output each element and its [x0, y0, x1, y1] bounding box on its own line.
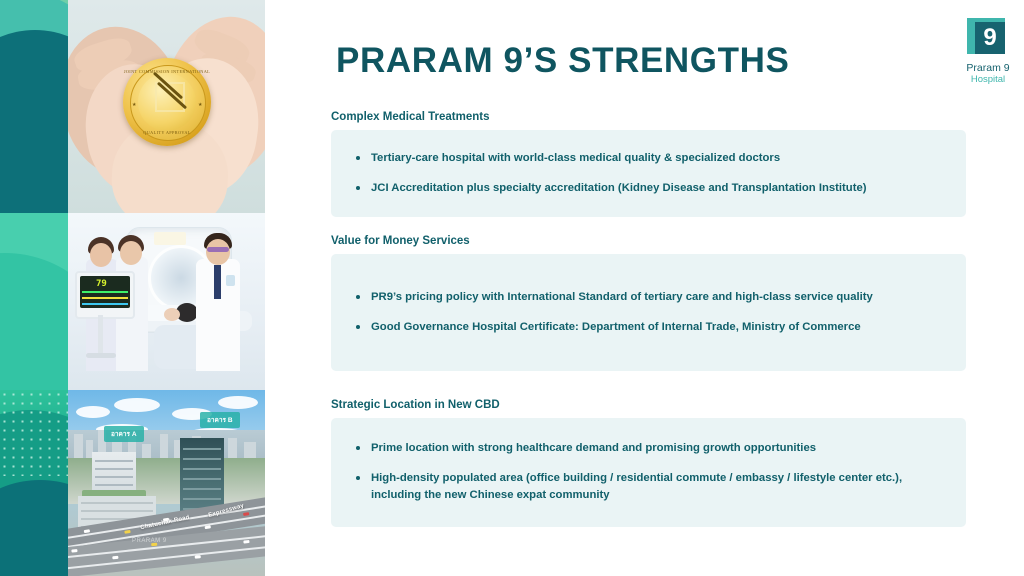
medal-bottom-text: QUALITY APPROVAL	[123, 130, 211, 135]
deco-segment-middle	[0, 213, 68, 390]
photo-strip: JOINT COMMISSION INTERNATIONAL QUALITY A…	[68, 0, 265, 576]
list-item: High-density populated area (office buil…	[349, 470, 948, 505]
list-item: PR9’s pricing policy with International …	[349, 289, 948, 307]
photo-aerial-city: Chatuchak Road Expressway อาคาร A อาคาร …	[68, 390, 265, 576]
list-item: Prime location with strong healthcare de…	[349, 440, 948, 458]
vitals-monitor-icon: 79	[75, 271, 135, 319]
building-tag-b: อาคาร B	[200, 412, 240, 428]
section-complex-medical-treatments: Complex Medical Treatments Tertiary-care…	[331, 111, 966, 217]
list-item: Tertiary-care hospital with world-class …	[349, 150, 948, 168]
logo-subtitle: Hospital	[956, 74, 1020, 85]
logo-mark-icon: 9	[967, 18, 1009, 58]
photo-jci-medal: JOINT COMMISSION INTERNATIONAL QUALITY A…	[68, 0, 265, 213]
section-box: Prime location with strong healthcare de…	[331, 418, 966, 527]
page-title: PRARAM 9’S STRENGTHS	[336, 41, 789, 81]
decorative-gradient-band	[0, 0, 68, 576]
section-value-for-money-services: Value for Money Services PR9’s pricing p…	[331, 235, 966, 371]
medal-top-text: JOINT COMMISSION INTERNATIONAL	[123, 69, 211, 74]
photo-watermark: PRARAM 9	[132, 538, 167, 544]
dot-pattern	[0, 390, 68, 476]
list-item: JCI Accreditation plus specialty accredi…	[349, 180, 948, 198]
list-item: Good Governance Hospital Certificate: De…	[349, 319, 948, 337]
bullet-list: Tertiary-care hospital with world-class …	[349, 150, 948, 197]
bullet-list: PR9’s pricing policy with International …	[349, 289, 948, 336]
logo-number: 9	[975, 22, 1005, 54]
building-tag-a: อาคาร A	[104, 426, 144, 442]
slide: JOINT COMMISSION INTERNATIONAL QUALITY A…	[0, 0, 1024, 576]
photo-ct-scanner: 79	[68, 213, 265, 390]
praram9-logo: 9 Praram 9 Hospital	[956, 18, 1020, 85]
logo-name: Praram 9	[956, 62, 1020, 74]
section-heading: Value for Money Services	[331, 235, 966, 247]
jci-medal-icon: JOINT COMMISSION INTERNATIONAL QUALITY A…	[123, 58, 211, 146]
section-heading: Complex Medical Treatments	[331, 111, 966, 123]
monitor-reading: 79	[96, 279, 107, 289]
section-strategic-location: Strategic Location in New CBD Prime loca…	[331, 399, 966, 527]
deco-segment-bottom	[0, 390, 68, 576]
section-heading: Strategic Location in New CBD	[331, 399, 966, 411]
content-area: PRARAM 9’S STRENGTHS 9 Praram 9 Hospital…	[265, 0, 1024, 576]
bullet-list: Prime location with strong healthcare de…	[349, 440, 948, 505]
section-box: Tertiary-care hospital with world-class …	[331, 130, 966, 217]
section-box: PR9’s pricing policy with International …	[331, 254, 966, 371]
deco-segment-top	[0, 0, 68, 213]
